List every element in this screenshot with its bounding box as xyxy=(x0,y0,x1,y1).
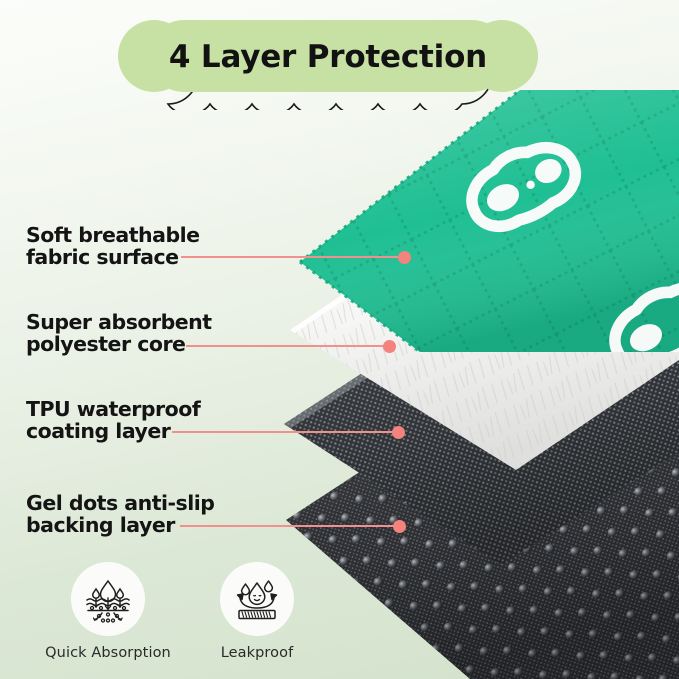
callout-4-line1: Gel dots anti-slip xyxy=(26,492,214,514)
leakproof-label: Leakproof xyxy=(182,645,332,661)
callout-2-connector xyxy=(186,345,389,347)
callout-4-connector xyxy=(180,525,399,527)
water-absorption-icon xyxy=(82,573,134,625)
feature-badge-quick-absorption: Quick Absorption xyxy=(33,562,183,661)
leakproof-circle xyxy=(220,562,294,636)
callout-1-endpoint-dot xyxy=(398,251,411,264)
callout-2-endpoint-dot xyxy=(383,340,396,353)
callout-3-endpoint-dot xyxy=(392,426,405,439)
leakproof-droplet-icon xyxy=(231,573,283,625)
callout-2-line2: polyester core xyxy=(26,333,185,355)
infographic-canvas: 4 Layer Protection Soft breathable fabri… xyxy=(0,0,679,679)
callout-1-line2: fabric surface xyxy=(26,246,179,268)
callout-2-line1: Super absorbent xyxy=(26,311,212,333)
callout-4-line2: backing layer xyxy=(26,514,175,536)
callout-3-line2: coating layer xyxy=(26,420,170,442)
callout-3-line1: TPU waterproof xyxy=(26,398,200,420)
banner-title-text: 4 Layer Protection xyxy=(118,18,538,96)
quick-absorption-circle xyxy=(71,562,145,636)
quick-absorption-label: Quick Absorption xyxy=(33,645,183,661)
feature-badge-leakproof: Leakproof xyxy=(182,562,332,661)
callout-1-connector xyxy=(181,256,404,258)
callout-3-connector xyxy=(172,431,398,433)
title-banner: 4 Layer Protection xyxy=(118,18,538,110)
callout-4-endpoint-dot xyxy=(393,520,406,533)
callout-1-line1: Soft breathable xyxy=(26,224,200,246)
